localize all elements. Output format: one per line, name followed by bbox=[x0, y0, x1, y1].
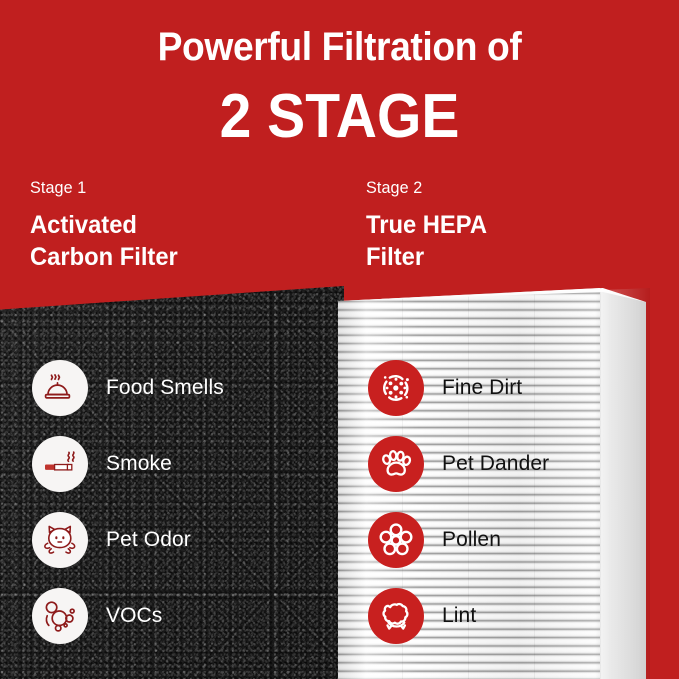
feature-label: Pet Odor bbox=[106, 528, 191, 551]
infographic-canvas: Powerful Filtration of 2 STAGE Stage 1 A… bbox=[0, 0, 679, 679]
food-cloche-icon bbox=[43, 371, 77, 405]
list-item: Pet Dander bbox=[368, 434, 648, 494]
lint-badge bbox=[368, 588, 424, 644]
list-item: Food Smells bbox=[32, 358, 322, 418]
lint-ball-icon bbox=[377, 597, 415, 635]
feature-label: Smoke bbox=[106, 452, 172, 475]
pet-odor-badge bbox=[32, 512, 88, 568]
header-banner: Powerful Filtration of 2 STAGE Stage 1 A… bbox=[0, 0, 679, 300]
page-title: Powerful Filtration of bbox=[24, 26, 655, 68]
feature-label: Pollen bbox=[442, 528, 501, 551]
feature-label: Fine Dirt bbox=[442, 376, 522, 399]
list-item: VOCs bbox=[32, 586, 322, 646]
page-title-emphasis: 2 STAGE bbox=[27, 84, 652, 149]
list-item: Pet Odor bbox=[32, 510, 322, 570]
stage-1-kicker: Stage 1 bbox=[30, 178, 315, 198]
hepa-feature-list: Fine Dirt Pet Dander bbox=[368, 358, 648, 646]
stage-1-name: Activated Carbon Filter bbox=[30, 209, 315, 273]
paw-print-icon bbox=[377, 445, 415, 483]
stage-heading-2: Stage 2 True HEPA Filter bbox=[366, 178, 666, 273]
smoke-badge bbox=[32, 436, 88, 492]
list-item: Pollen bbox=[368, 510, 648, 570]
list-item: Lint bbox=[368, 586, 648, 646]
pollen-badge bbox=[368, 512, 424, 568]
feature-label: Lint bbox=[442, 604, 476, 627]
stage-2-name: True HEPA Filter bbox=[366, 209, 651, 273]
list-item: Fine Dirt bbox=[368, 358, 648, 418]
stage-heading-1: Stage 1 Activated Carbon Filter bbox=[30, 178, 330, 273]
stage-2-kicker: Stage 2 bbox=[366, 178, 651, 198]
food-smells-badge bbox=[32, 360, 88, 416]
cigarette-smoke-icon bbox=[42, 447, 78, 481]
feature-label: VOCs bbox=[106, 604, 162, 627]
feature-label: Food Smells bbox=[106, 376, 224, 399]
dust-particles-icon bbox=[376, 368, 416, 408]
pet-dander-badge bbox=[368, 436, 424, 492]
carbon-feature-list: Food Smells Smoke bbox=[32, 358, 322, 646]
feature-label: Pet Dander bbox=[442, 452, 549, 475]
cat-face-icon bbox=[42, 523, 78, 557]
list-item: Smoke bbox=[32, 434, 322, 494]
molecule-bubbles-icon bbox=[42, 599, 78, 633]
vocs-badge bbox=[32, 588, 88, 644]
fine-dirt-badge bbox=[368, 360, 424, 416]
flower-icon bbox=[377, 521, 415, 559]
